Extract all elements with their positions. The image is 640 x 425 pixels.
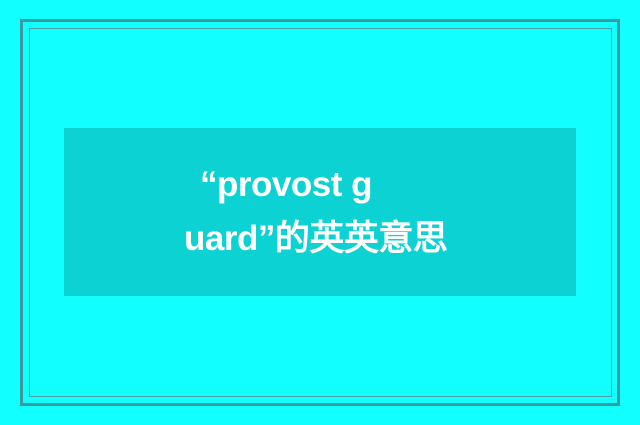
- title-line-1: “provost g: [64, 158, 372, 212]
- title-panel: “provost g uard”的英英意思: [64, 128, 576, 296]
- poster-canvas: “provost g uard”的英英意思: [0, 0, 640, 425]
- title-line-2: uard”的英英意思: [64, 212, 447, 266]
